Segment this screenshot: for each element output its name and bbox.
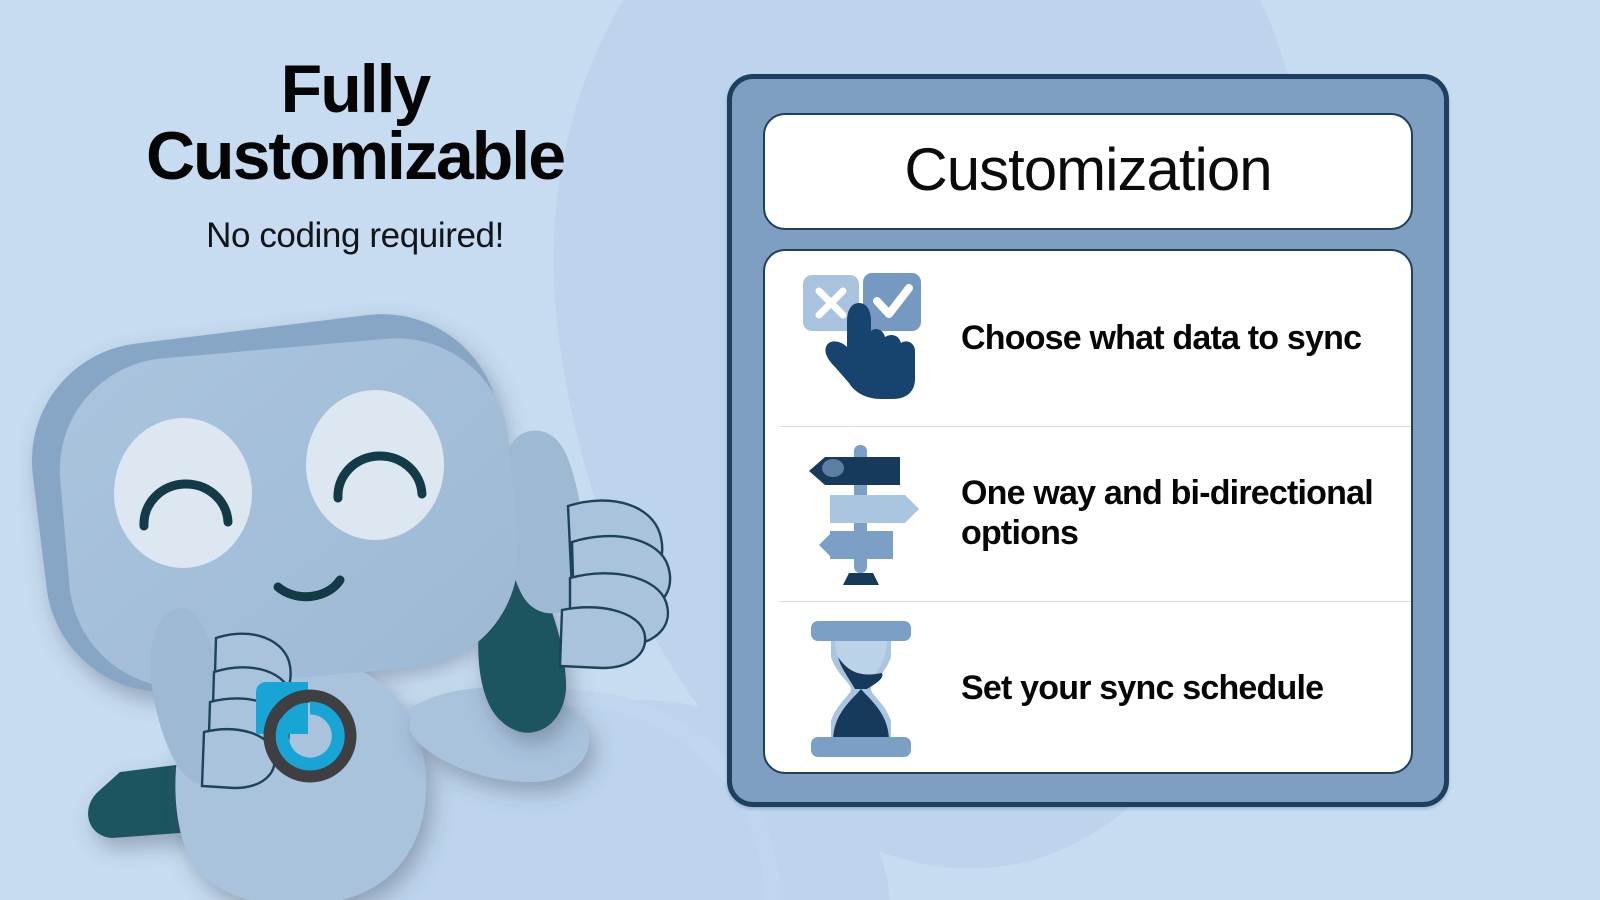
headline-line-1: Fully	[281, 51, 430, 127]
hourglass-icon	[793, 614, 929, 764]
page-title: Fully Customizable	[0, 56, 710, 191]
list-item[interactable]: Set your sync schedule	[765, 601, 1411, 774]
customization-card: Customization Choose what data to sync	[727, 74, 1449, 807]
page-subtitle: No coding required!	[0, 216, 710, 256]
checkbox-select-icon	[793, 264, 929, 414]
card-title: Customization	[904, 140, 1271, 204]
list-item-label: Choose what data to sync	[961, 319, 1361, 359]
list-item-label: One way and bi-directional options	[961, 474, 1381, 554]
list-item-label: Set your sync schedule	[961, 669, 1323, 709]
list-item[interactable]: One way and bi-directional options	[765, 426, 1411, 601]
headline-line-2: Customizable	[0, 123, 710, 190]
signpost-icon	[793, 439, 929, 589]
mascot-eye-left	[114, 418, 252, 568]
feature-list: Choose what data to sync One way and bi-…	[763, 249, 1413, 774]
mascot-right-hand	[560, 501, 670, 668]
list-item[interactable]: Choose what data to sync	[765, 251, 1411, 426]
robot-mascot	[20, 290, 700, 900]
card-header: Customization	[763, 113, 1413, 230]
hero-section: Fully Customizable No coding required!	[0, 0, 710, 900]
mascot-eye-right	[306, 390, 444, 540]
